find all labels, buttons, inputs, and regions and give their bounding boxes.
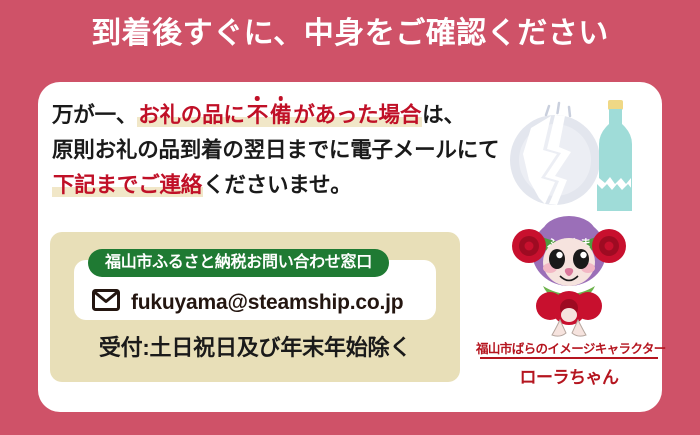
body-line1-emphasis-2: 備 [269,103,292,127]
body-line1-emphasis-1: 不 [246,103,269,127]
body-line1-before: 万が一、 [52,103,137,127]
body-line3-highlight: 下記までご連絡 [52,173,203,197]
notice-banner: 到着後すぐに、中身をご確認ください 万が一、お礼の品に不備があった場合は、 原則… [0,0,700,435]
body-line-1: 万が一、お礼の品に不備があった場合は、 [52,98,522,133]
body-line1-highlight-a: お礼の品に [137,103,246,127]
page-title: 到着後すぐに、中身をご確認ください [0,16,700,52]
mascot-character-icon: ふくやま [498,206,640,338]
body-line1-after: は、 [422,103,465,127]
body-line2-text: 原則お礼の品到着の翌日までに電子メールにて [52,138,499,162]
broken-plate-and-bottle-icon [493,94,653,214]
mascot-caption: 福山市ばらのイメージキャラクター [476,338,662,357]
email-address[interactable]: fukuyama@steamship.co.jp [131,291,403,315]
mascot-block: ふくやま [476,206,662,396]
office-label-pill: 福山市ふるさと納税お問い合わせ窓口 [88,249,389,277]
envelope-icon [92,289,120,316]
body-paragraph: 万が一、お礼の品に不備があった場合は、 原則お礼の品到着の翌日までに電子メールに… [52,98,522,203]
email-row[interactable]: fukuyama@steamship.co.jp [92,289,403,316]
contact-panel: 福山市ふるさと納税お問い合わせ窓口 fukuyama@steamship.co.… [50,232,460,382]
mascot-name: ローラちゃん [476,363,662,388]
office-hours: 受付:土日祝日及び年末年始除く [50,330,460,362]
body-line-3: 下記までご連絡くださいませ。 [52,168,522,203]
body-line3-after: くださいませ。 [203,173,351,197]
content-card: 万が一、お礼の品に不備があった場合は、 原則お礼の品到着の翌日までに電子メールに… [38,82,662,412]
mascot-divider [480,357,658,359]
body-line1-highlight-b: があった場合 [292,103,422,127]
body-line-2: 原則お礼の品到着の翌日までに電子メールにて [52,133,522,168]
